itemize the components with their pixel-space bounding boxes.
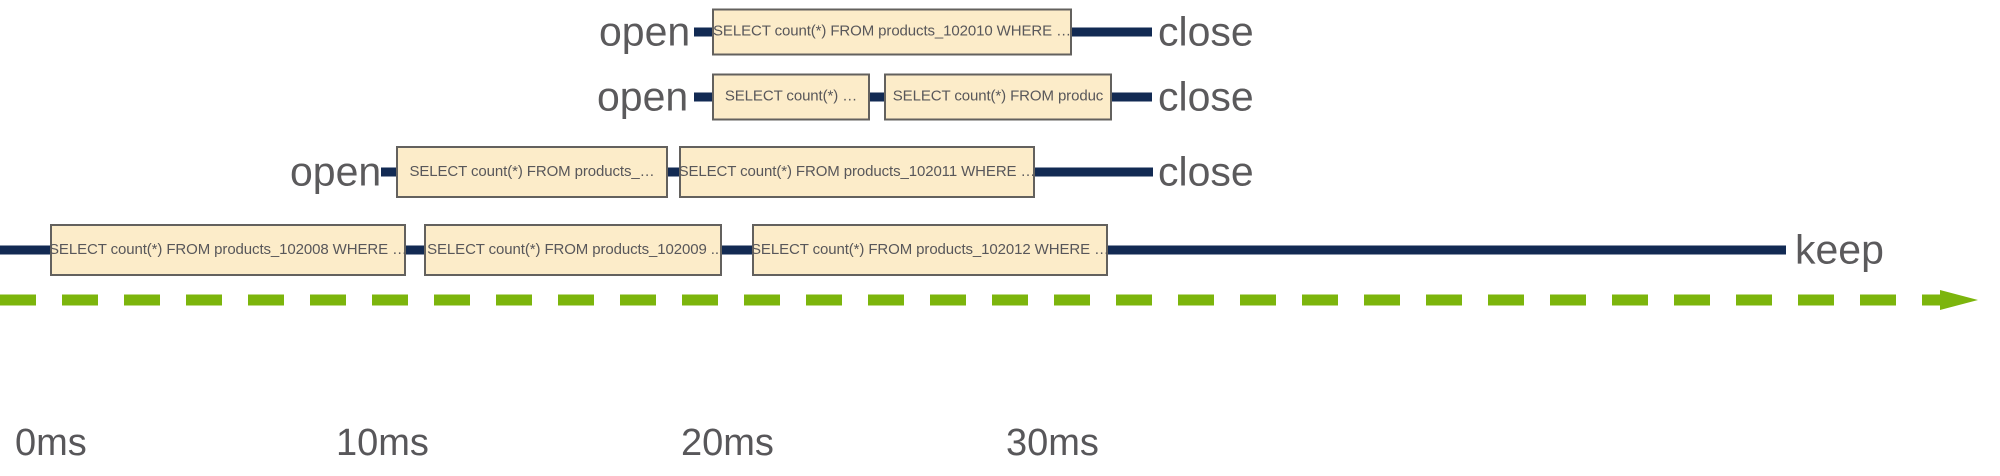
open-label-row-1: open	[599, 12, 690, 53]
axis-tick-0ms: 0ms	[15, 424, 87, 462]
dashed-arrow-right-icon	[0, 288, 2000, 312]
connection-segment-row-2-end	[1108, 93, 1152, 102]
close-label-row-3: close	[1158, 152, 1254, 193]
timeline-diagram: open SELECT count(*) FROM products_10201…	[0, 0, 2000, 476]
query-box[interactable]: SELECT count(*) FROM products_102011 WHE…	[679, 146, 1035, 198]
axis-tick-20ms: 20ms	[681, 424, 774, 462]
close-label-row-1: close	[1158, 12, 1254, 53]
query-box[interactable]: SELECT count(*) FROM products_102008 WHE…	[50, 224, 406, 276]
open-label-row-2: open	[597, 77, 688, 118]
close-label-row-2: close	[1158, 77, 1254, 118]
connection-segment-row-4-end	[1104, 246, 1786, 255]
query-box[interactable]: SELECT count(*) FROM products_102012 WHE…	[752, 224, 1108, 276]
query-box[interactable]: SELECT count(*) FROM products_102009 ..	[424, 224, 722, 276]
query-box[interactable]: SELECT count(*) FROM produc	[884, 74, 1112, 121]
query-box[interactable]: SELECT count(*) FROM products_102010 WHE…	[712, 9, 1072, 56]
query-box[interactable]: SELECT count(*) …	[712, 74, 870, 121]
keep-label-row-4: keep	[1795, 230, 1884, 271]
query-box[interactable]: SELECT count(*) FROM products_…	[396, 146, 668, 198]
open-label-row-3: open	[290, 152, 381, 193]
connection-segment-row-3-end	[1031, 168, 1153, 177]
axis-tick-30ms: 30ms	[1006, 424, 1099, 462]
axis-tick-10ms: 10ms	[336, 424, 429, 462]
